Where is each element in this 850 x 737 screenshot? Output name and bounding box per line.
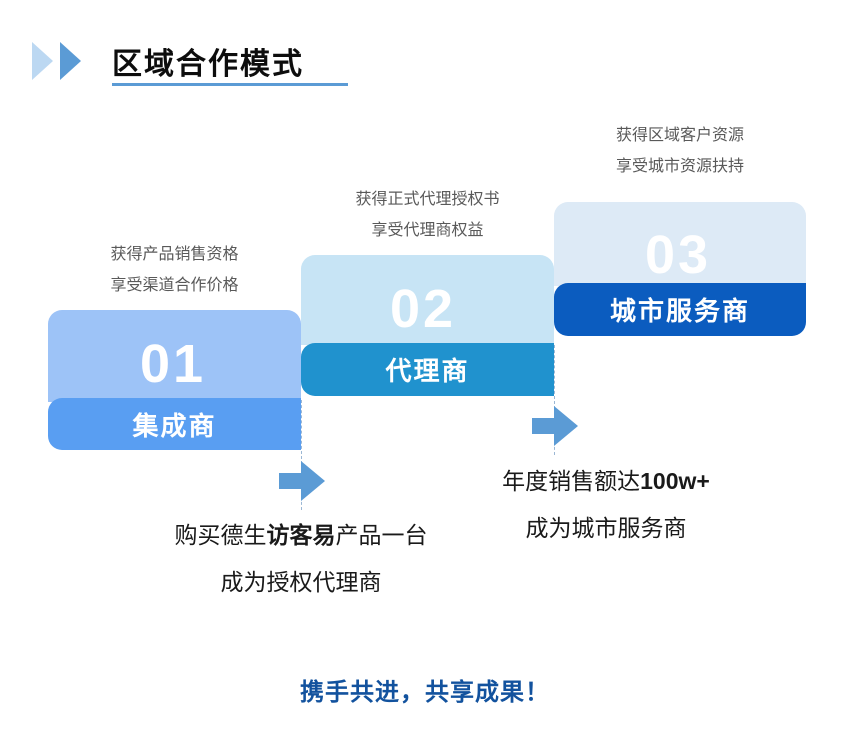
tier-benefit-line: 获得正式代理授权书 bbox=[301, 184, 554, 215]
footer-slogan: 携手共进，共享成果！ bbox=[0, 672, 850, 707]
chevron-right-icon-dark bbox=[60, 42, 81, 80]
tier-number-03: 03 bbox=[645, 228, 711, 282]
tier-benefits-02: 获得正式代理授权书 享受代理商权益 bbox=[301, 184, 554, 246]
requirement-emphasis: 100w+ bbox=[640, 468, 710, 494]
tier-card-bar-01[interactable]: 集成商 bbox=[48, 398, 301, 450]
requirement-suffix: 产品一台 bbox=[336, 522, 428, 548]
region-cooperation-infographic: 区域合作模式 获得产品销售资格 享受渠道合作价格 01 集成商 获得正式代理授权… bbox=[0, 0, 850, 737]
tier-name-03: 城市服务商 bbox=[610, 291, 750, 328]
tier-card-bar-03[interactable]: 城市服务商 bbox=[554, 283, 806, 336]
tier-card-bar-02[interactable]: 代理商 bbox=[301, 343, 554, 396]
page-header: 区域合作模式 bbox=[0, 0, 850, 110]
upgrade-requirement-1: 购买德生访客易产品一台 bbox=[136, 512, 466, 559]
tier-number-01: 01 bbox=[140, 337, 206, 391]
title-underline bbox=[112, 83, 348, 86]
tier-number-02: 02 bbox=[390, 282, 456, 336]
upgrade-requirement-2: 年度销售额达100w+ bbox=[441, 458, 771, 505]
upgrade-step-caption-2: 年度销售额达100w+ 成为城市服务商 bbox=[441, 458, 771, 552]
tier-benefits-03: 获得区域客户资源 享受城市资源扶持 bbox=[554, 120, 806, 182]
chevron-right-icon-light bbox=[32, 42, 53, 80]
tier-benefit-line: 享受城市资源扶持 bbox=[554, 151, 806, 182]
upgrade-result-1: 成为授权代理商 bbox=[136, 559, 466, 606]
upgrade-result-2: 成为城市服务商 bbox=[441, 505, 771, 552]
tier-name-02: 代理商 bbox=[385, 351, 469, 388]
tier-name-01: 集成商 bbox=[132, 406, 216, 443]
tier-benefits-01: 获得产品销售资格 享受渠道合作价格 bbox=[48, 239, 301, 301]
tier-benefit-line: 享受代理商权益 bbox=[301, 215, 554, 246]
arrow-right-icon-step1 bbox=[279, 461, 325, 501]
requirement-emphasis: 访客易 bbox=[267, 522, 336, 548]
requirement-prefix: 年度销售额达 bbox=[502, 468, 640, 494]
upgrade-step-caption-1: 购买德生访客易产品一台 成为授权代理商 bbox=[136, 512, 466, 606]
arrow-right-icon-step2 bbox=[532, 406, 578, 446]
tier-benefit-line: 获得区域客户资源 bbox=[554, 120, 806, 151]
tier-benefit-line: 享受渠道合作价格 bbox=[48, 270, 301, 301]
page-title: 区域合作模式 bbox=[112, 39, 304, 83]
tier-benefit-line: 获得产品销售资格 bbox=[48, 239, 301, 270]
requirement-prefix: 购买德生 bbox=[175, 522, 267, 548]
